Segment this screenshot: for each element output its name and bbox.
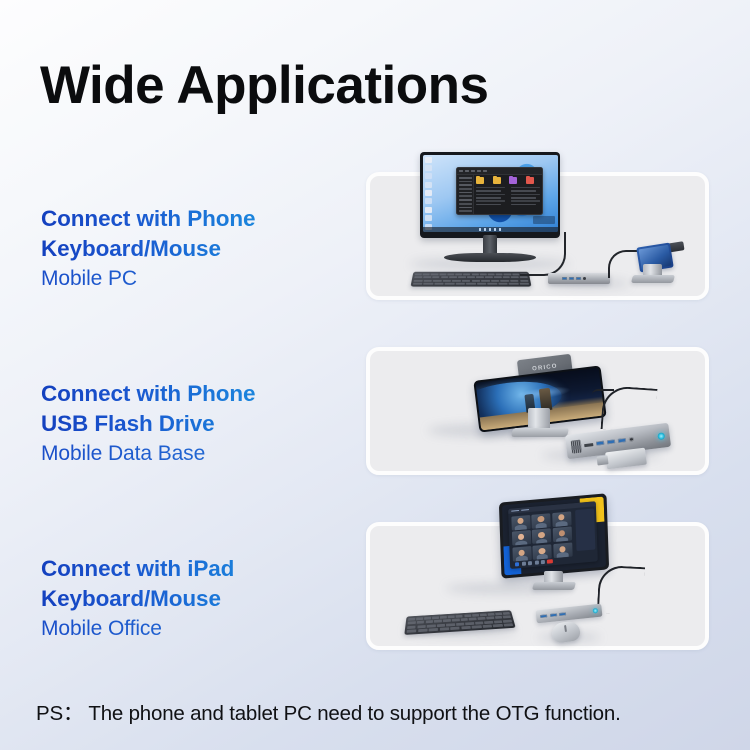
cable	[520, 232, 566, 276]
monitor	[420, 152, 560, 238]
ipad	[499, 493, 609, 578]
feature-subtitle: Mobile Data Base	[41, 439, 371, 470]
feature-subtitle: Mobile Office	[41, 614, 371, 645]
usb-port	[550, 613, 557, 617]
stand-base	[532, 582, 576, 590]
feature-subtitle: Mobile PC	[41, 264, 371, 295]
cable	[597, 565, 645, 615]
product-photo-panel-mobile-office	[366, 522, 709, 650]
stand-base	[511, 428, 569, 437]
participant-tile	[512, 530, 531, 546]
phone-stand	[512, 403, 568, 437]
feature-heading-line1: Connect with Phone	[41, 379, 371, 409]
participant-tile	[531, 513, 550, 529]
explorer-toolbar	[457, 168, 541, 175]
video-conference-app	[508, 501, 597, 569]
desktop-icons	[425, 157, 436, 233]
folder-icons	[476, 177, 540, 184]
participant-tile	[552, 511, 571, 527]
feature-heading-line2: Keyboard/Mouse	[41, 584, 371, 614]
folder-icon	[509, 177, 517, 184]
feature-heading-line1: Connect with iPad	[41, 554, 371, 584]
sd-card-slot	[584, 443, 593, 447]
scene-phone-stand-hub-flashdrive: ORICO	[370, 275, 705, 471]
participants-icon	[534, 560, 538, 564]
monitor-screen	[423, 155, 558, 233]
ipad-screen	[502, 497, 606, 576]
feature-block-mobile-pc: Connect with Phone Keyboard/Mouse Mobile…	[41, 204, 371, 295]
explorer-content	[474, 175, 542, 214]
end-call-icon	[547, 559, 553, 564]
usb-c-hub	[536, 604, 603, 624]
participant-grid	[508, 508, 574, 564]
audio-jack	[629, 437, 634, 442]
file-explorer-window	[456, 167, 542, 215]
feature-heading-line2: USB Flash Drive	[41, 409, 371, 439]
explorer-nav-pane	[457, 175, 474, 214]
camera-icon	[522, 561, 526, 565]
feature-heading-line2: Keyboard/Mouse	[41, 234, 371, 264]
folder-icon	[493, 177, 501, 184]
feature-block-mobile-office: Connect with iPad Keyboard/Mouse Mobile …	[41, 554, 371, 645]
power-led	[593, 608, 598, 613]
participant-tile	[511, 515, 530, 531]
power-led	[657, 432, 665, 440]
share-icon	[528, 561, 532, 565]
chat-panel	[575, 509, 596, 552]
folder-icon	[526, 177, 534, 184]
participant-tile	[552, 527, 571, 543]
participant-tile	[532, 529, 551, 545]
folder-icon	[476, 177, 484, 184]
wide-applications-graphic: Wide Applications Connect with Phone Key…	[0, 0, 750, 750]
usb-port	[559, 612, 566, 616]
scene-ipad-keyboard-hub-mouse	[370, 450, 705, 646]
chat-icon	[541, 560, 545, 564]
screen-watermark	[533, 216, 555, 224]
mic-icon	[515, 562, 519, 566]
usb-port	[596, 441, 604, 446]
feature-heading-line1: Connect with Phone	[41, 204, 371, 234]
usb-port	[607, 439, 615, 444]
footnote: PS： The phone and tablet PC need to supp…	[36, 696, 621, 726]
usb-port	[540, 614, 547, 618]
scene-monitor-keyboard-hub-phone	[370, 100, 705, 296]
feature-block-mobile-data-base: Connect with Phone USB Flash Drive Mobil…	[41, 379, 371, 470]
ipad-stand	[533, 568, 575, 590]
usb-port	[618, 438, 626, 443]
